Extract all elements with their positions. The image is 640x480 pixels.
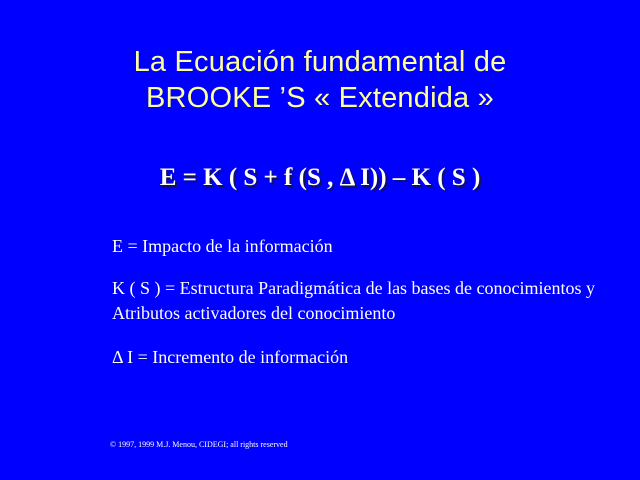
definitions-list: E = Impacto de la información K ( S ) = … <box>112 234 617 370</box>
definition-item-incremento: Δ I = Incremento de información <box>112 345 617 370</box>
slide-title: La Ecuación fundamental de BROOKE ’S « E… <box>50 44 590 116</box>
fundamental-equation: E = K ( S + f (S , Δ I)) – K ( S ) <box>50 163 590 193</box>
presentation-slide: La Ecuación fundamental de BROOKE ’S « E… <box>0 0 640 480</box>
definition-item-impacto: E = Impacto de la información <box>112 234 617 259</box>
definition-item-estructura: K ( S ) = Estructura Paradigmática de la… <box>112 276 617 326</box>
copyright-notice: © 1997, 1999 M.J. Menou, CIDEGI; all rig… <box>110 439 288 450</box>
